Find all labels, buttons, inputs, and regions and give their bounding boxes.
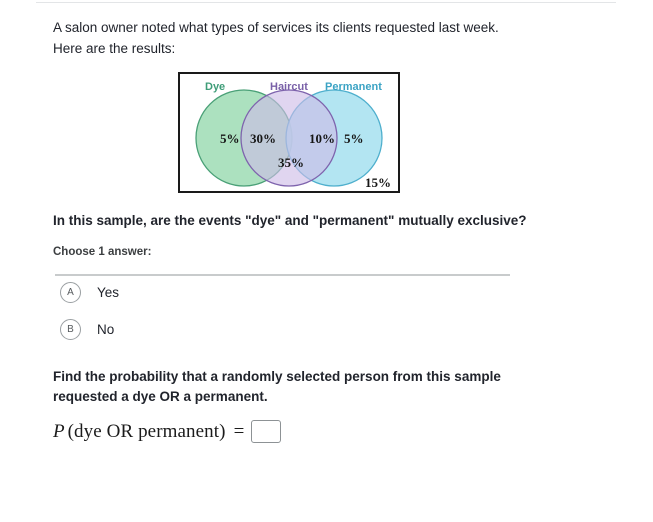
choices-divider [55, 274, 510, 276]
venn-value-dye-and-haircut: 30% [250, 131, 276, 147]
question-1-prompt: In this sample, are the events "dye" and… [53, 211, 553, 231]
problem-statement-line-2: Here are the results: [53, 38, 553, 59]
venn-label-permanent: Permanent [325, 81, 382, 93]
venn-diagram-figure: Dye Haircut Permanent 5% 30% 35% 10% 5% … [178, 72, 400, 193]
probability-expression: P (dye OR permanent) = [53, 420, 281, 443]
venn-value-dye-only: 5% [220, 131, 240, 147]
choice-label-a: Yes [97, 285, 119, 300]
answer-input[interactable] [251, 420, 281, 443]
choice-label-b: No [97, 322, 114, 337]
probability-event-expression: (dye OR permanent) [68, 421, 226, 443]
choice-bubble-b[interactable]: B [60, 319, 81, 340]
problem-statement-line-1: A salon owner noted what types of servic… [53, 17, 553, 38]
equals-sign: = [234, 421, 245, 443]
problem-statement: A salon owner noted what types of servic… [53, 17, 553, 59]
venn-value-outside: 15% [365, 175, 391, 191]
question-2-prompt: Find the probability that a randomly sel… [53, 367, 513, 407]
choice-bubble-a[interactable]: A [60, 282, 81, 303]
venn-label-dye: Dye [205, 81, 225, 93]
venn-value-haircut-only: 35% [278, 155, 304, 171]
choose-one-answer-label: Choose 1 answer: [53, 246, 151, 258]
choice-option-b[interactable]: B No [60, 319, 114, 340]
venn-label-haircut: Haircut [270, 81, 308, 93]
venn-value-permanent-only: 5% [344, 131, 364, 147]
choice-option-a[interactable]: A Yes [60, 282, 119, 303]
venn-value-haircut-and-permanent: 10% [309, 131, 335, 147]
probability-function-symbol: P [53, 421, 65, 443]
top-divider [36, 2, 616, 3]
